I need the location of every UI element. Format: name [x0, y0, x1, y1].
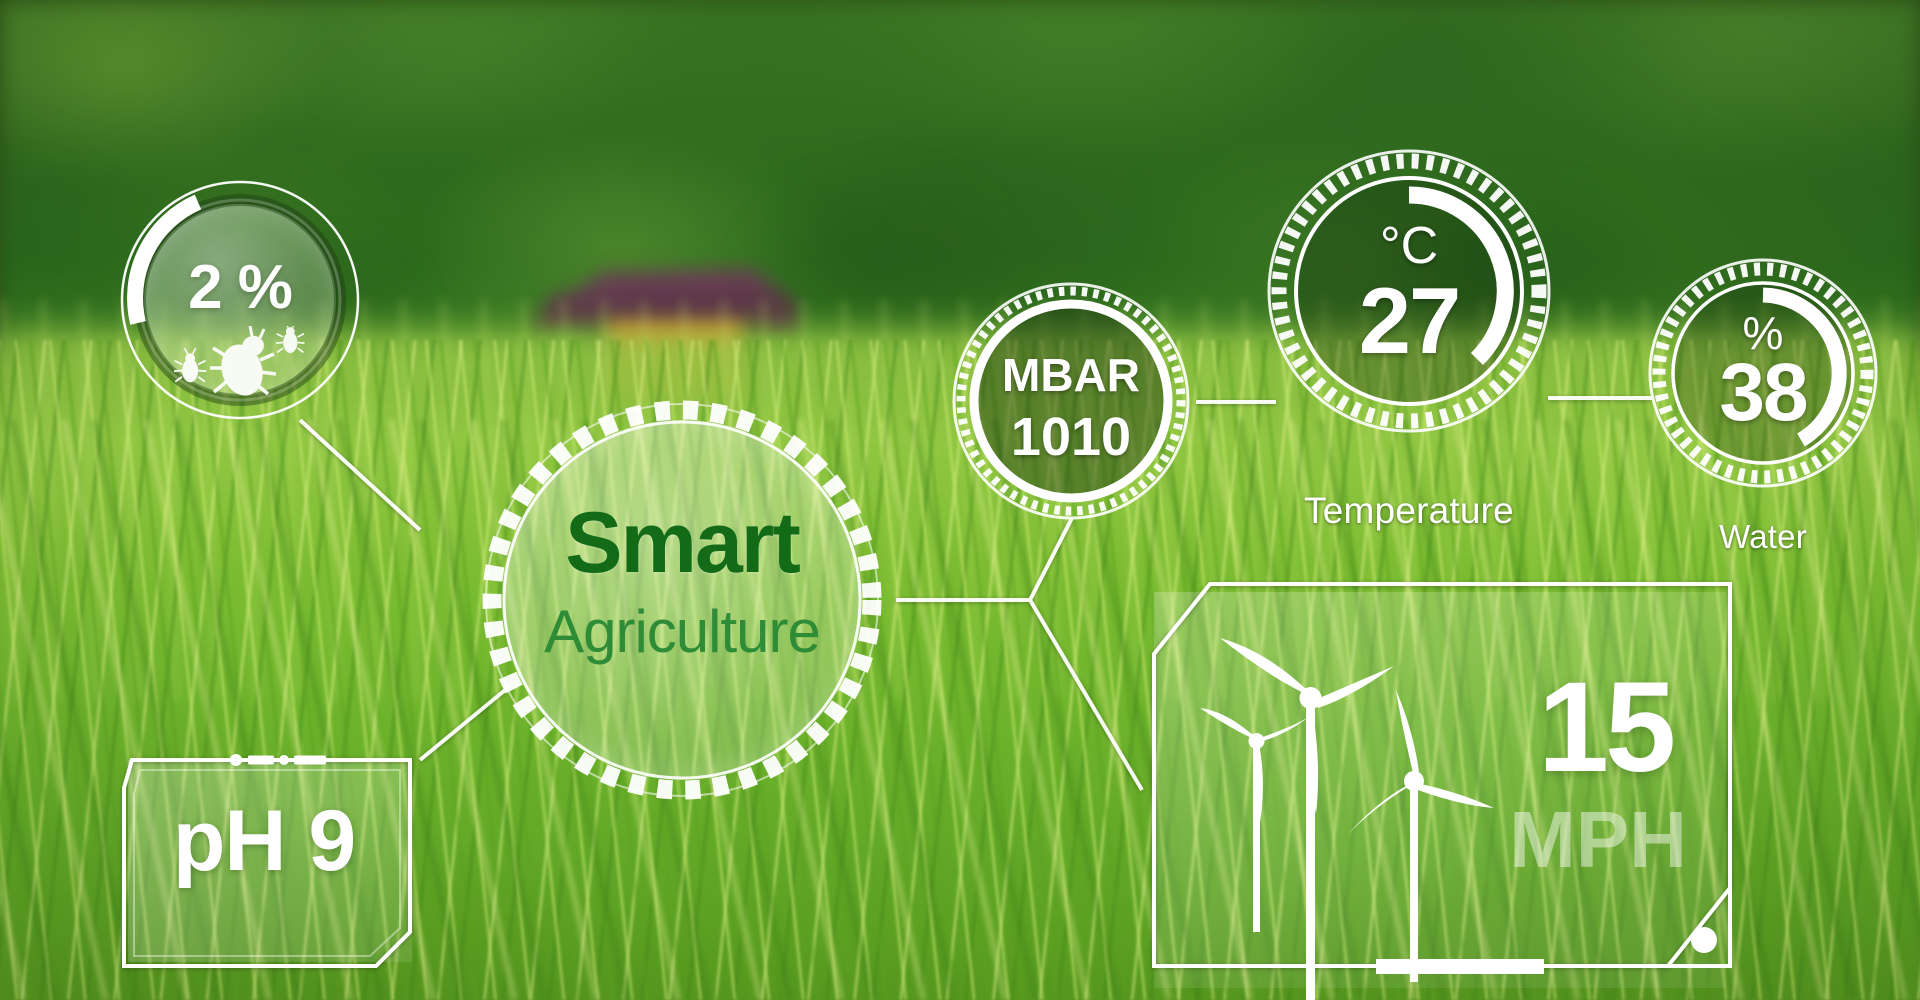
pressure-unit-label: MBAR — [948, 348, 1194, 402]
screenshot-stage: 2 % — [0, 0, 1920, 1000]
wind-turbine-icon — [1200, 638, 1494, 1000]
pest-widget[interactable]: 2 % — [118, 178, 362, 422]
wind-value: 15 — [1490, 664, 1720, 792]
water-value: 38 — [1646, 352, 1880, 434]
water-widget[interactable]: % 38 — [1646, 256, 1880, 490]
wind-widget[interactable]: 15 MPH — [1138, 578, 1746, 1000]
connector-junction-to-wind — [1030, 600, 1142, 790]
ph-value: pH 9 — [114, 798, 414, 884]
temperature-widget[interactable]: °C 27 — [1264, 146, 1554, 436]
smart-agriculture-core-widget[interactable]: Smart Agriculture — [472, 390, 892, 810]
core-subtitle: Agriculture — [502, 602, 862, 662]
insect-icon — [172, 326, 320, 400]
temperature-caption: Temperature — [1284, 490, 1534, 532]
connector-junction-to-mbar — [1030, 518, 1072, 600]
wind-status-dot — [1691, 927, 1717, 953]
core-title: Smart — [502, 500, 862, 586]
wind-bottom-bar — [1376, 959, 1544, 974]
wind-unit-label: MPH — [1468, 800, 1728, 880]
pest-value: 2 % — [144, 252, 336, 323]
pressure-widget[interactable]: MBAR 1010 — [948, 278, 1194, 524]
water-caption: Water — [1646, 518, 1880, 556]
pressure-value: 1010 — [948, 406, 1194, 468]
temperature-value: 27 — [1264, 274, 1554, 368]
temperature-unit-label: °C — [1264, 220, 1554, 272]
connector-pest-to-core — [300, 420, 420, 530]
hud-overlay: 2 % — [0, 0, 1920, 1000]
ph-widget[interactable]: pH 9 — [114, 744, 428, 980]
